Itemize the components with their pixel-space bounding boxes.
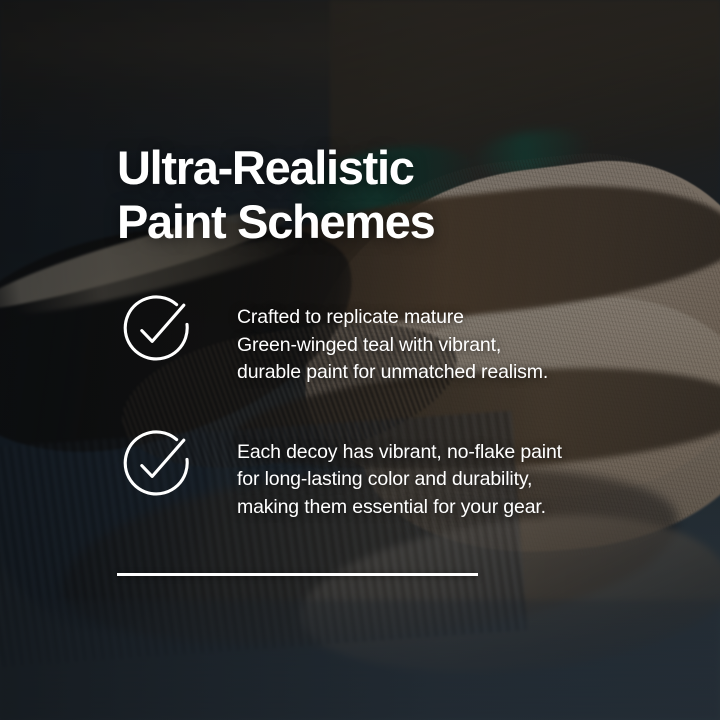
content-layer: Ultra-Realistic Paint Schemes Crafted to… — [0, 0, 720, 720]
list-item: Each decoy has vibrant, no-flake paint f… — [117, 429, 637, 522]
list-item-text: Crafted to replicate mature Green-winged… — [237, 294, 548, 387]
list-item-text: Each decoy has vibrant, no-flake paint f… — [237, 429, 562, 522]
marketing-banner: Ultra-Realistic Paint Schemes Crafted to… — [0, 0, 720, 720]
check-circle-icon — [117, 425, 197, 505]
list-item: Crafted to replicate mature Green-winged… — [117, 294, 637, 387]
divider — [117, 573, 478, 576]
feature-list: Crafted to replicate mature Green-winged… — [117, 294, 637, 521]
check-circle-icon — [117, 290, 197, 370]
page-title: Ultra-Realistic Paint Schemes — [117, 141, 657, 249]
